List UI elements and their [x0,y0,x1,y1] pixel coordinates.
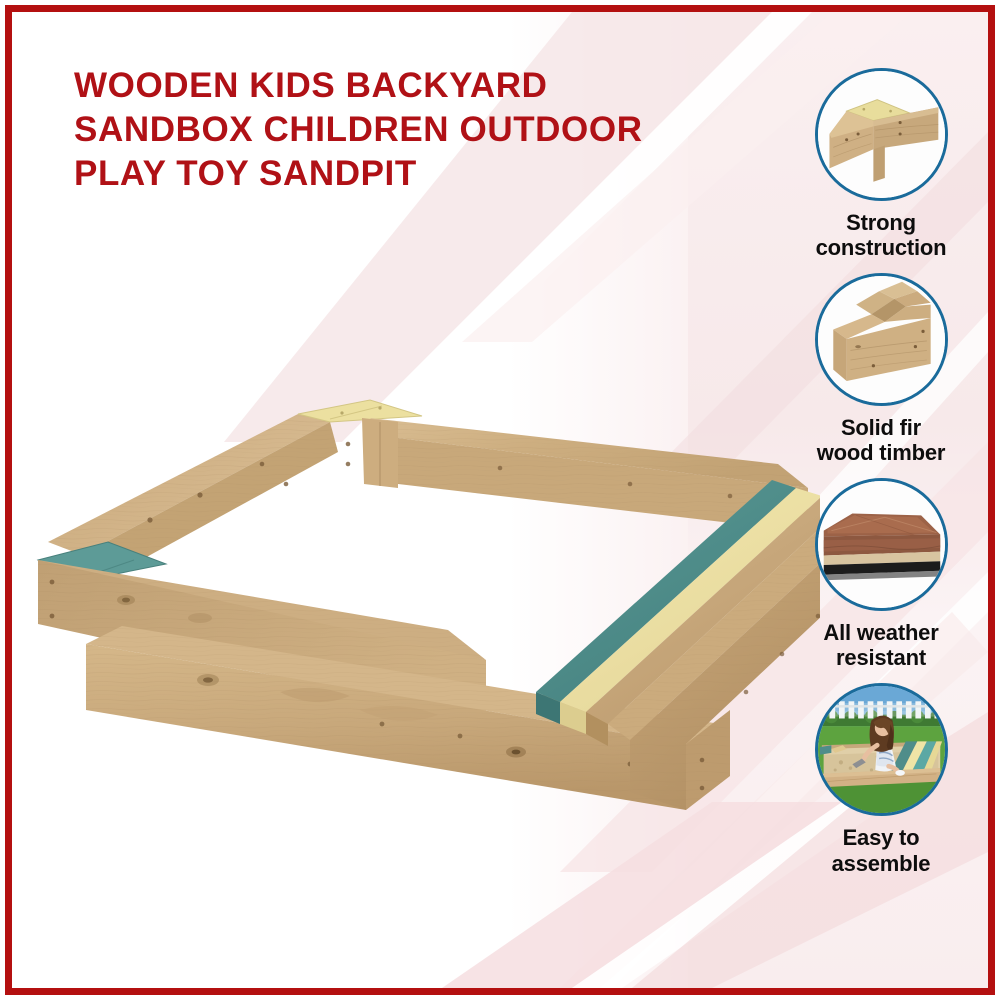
page-title: WOODEN KIDS BACKYARD SANDBOX CHILDREN OU… [74,64,694,196]
feature-item-easy-to-assemble: Easy to assemble [782,683,980,875]
caption-line-2: resistant [836,645,926,670]
feature-caption: Strong construction [783,210,979,260]
caption-line-1: All weather [823,620,938,645]
feature-caption: All weather resistant [783,620,979,670]
feature-caption: Solid fir wood timber [783,415,979,465]
red-border-frame: WOODEN KIDS BACKYARD SANDBOX CHILDREN OU… [5,5,995,995]
feature-item-solid-fir-wood-timber: Solid fir wood timber [782,273,980,465]
title-line-3: PLAY TOY SANDPIT [74,152,694,196]
feature-item-all-weather-resistant: All weather resistant [782,478,980,670]
feature-caption: Easy to assemble [783,825,979,875]
caption-line-1: Strong [846,210,916,235]
title-line-1: WOODEN KIDS BACKYARD [74,64,694,108]
caption-line-1: Solid fir [841,415,921,440]
feature-callout-list: Strong construction [782,68,980,876]
product-marketing-image: WOODEN KIDS BACKYARD SANDBOX CHILDREN OU… [0,0,1000,1000]
feature-item-strong-construction: Strong construction [782,68,980,260]
caption-line-1: Easy to [843,825,920,850]
caption-line-2: construction [816,235,947,260]
product-hero-image [30,392,820,812]
caption-line-2: wood timber [817,440,946,465]
title-line-2: SANDBOX CHILDREN OUTDOOR [74,108,694,152]
wood-corner-joint-photo-icon [815,68,948,201]
brown-weather-cover-photo-icon [815,478,948,611]
child-playing-in-sandbox-photo-icon [815,683,948,816]
fir-timber-boards-photo-icon [815,273,948,406]
caption-line-2: assemble [832,851,931,876]
